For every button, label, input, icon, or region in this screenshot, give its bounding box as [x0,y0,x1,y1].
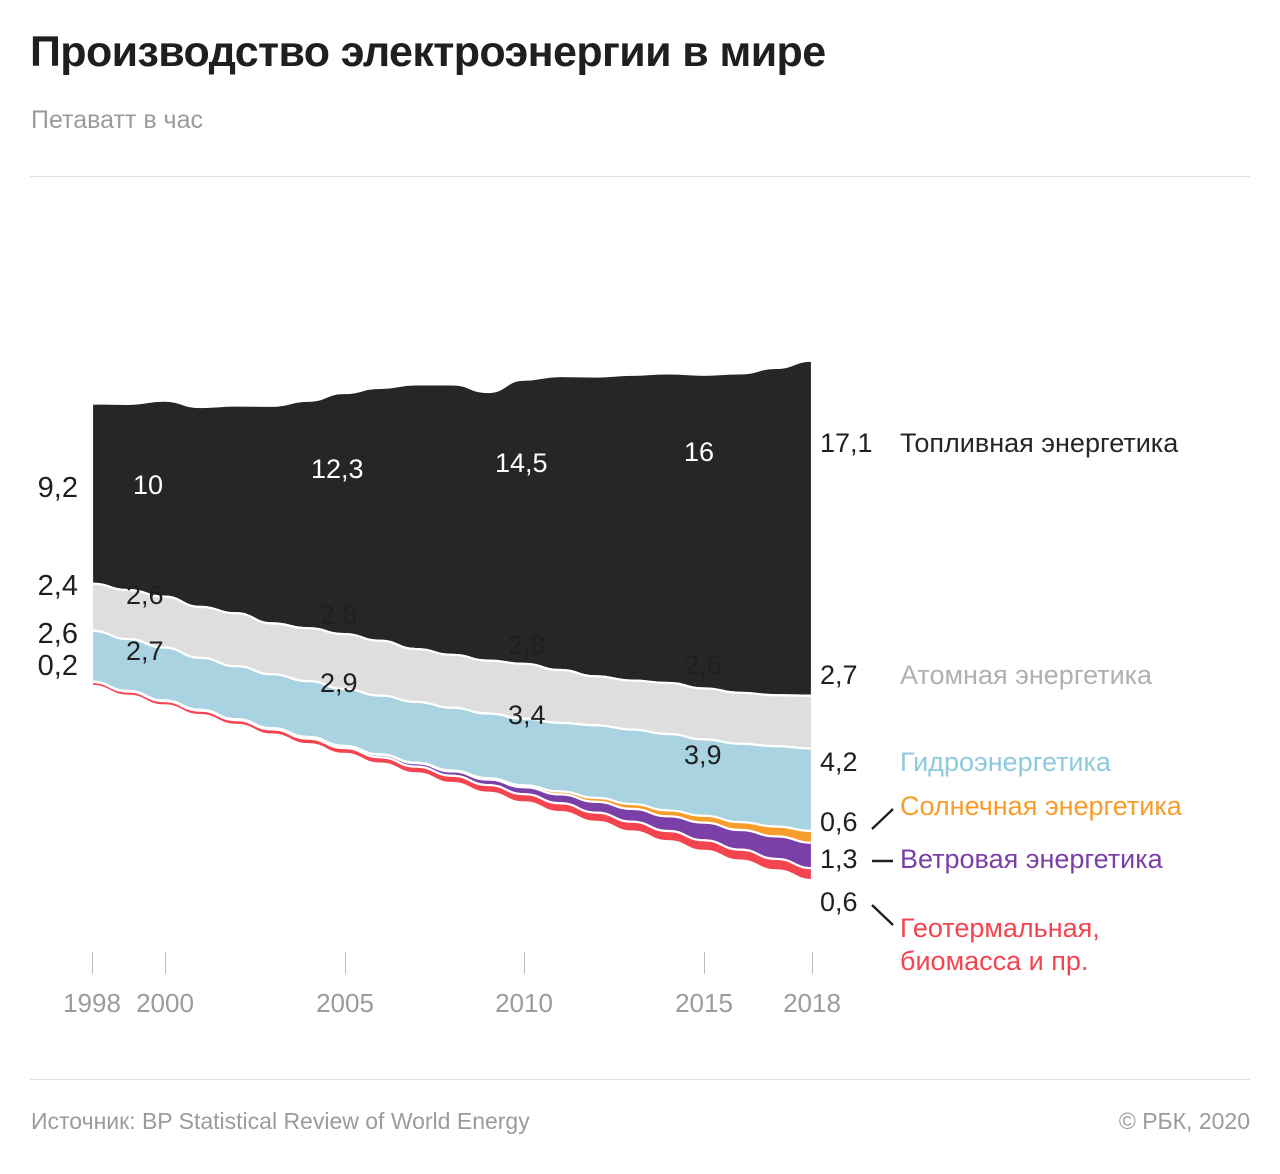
data-label-nuclear: 2,8 [508,630,546,661]
data-label-fuel: 12,3 [311,454,364,485]
x-tick-2018 [812,952,813,974]
x-tick-2005 [345,952,346,974]
legend-label-solar: Солнечная энергетика [900,791,1182,822]
left-value-fuel: 9,2 [0,472,78,505]
x-tick-2015 [704,952,705,974]
legend-label-hydro: Гидроэнергетика [900,747,1111,778]
legend-label-wind: Ветровая энергетика [900,844,1163,875]
x-label-2018: 2018 [760,988,864,1019]
data-label-fuel: 16 [684,437,714,468]
legend-leader-geothermal [872,905,893,925]
legend-value-nuclear: 2,7 [820,660,858,691]
infographic-page: Производство электроэнергии в мире Петав… [0,0,1280,1174]
legend-value-geothermal: 0,6 [820,887,858,918]
legend-label-geothermal: Геотермальная,биомасса и пр. [900,912,1100,978]
legend-label-line: биомасса и пр. [900,945,1100,978]
copyright-note: © РБК, 2020 [1119,1108,1250,1135]
data-label-nuclear: 2,6 [126,580,164,611]
data-label-hydro: 2,7 [126,636,164,667]
left-value-nuclear: 2,4 [0,570,78,603]
data-label-fuel: 10 [133,470,163,501]
data-label-nuclear: 2,8 [320,600,358,631]
footer-divider [30,1079,1250,1080]
left-value-hydro: 2,6 [0,618,78,651]
legend-label-fuel: Топливная энергетика [900,428,1178,459]
legend-value-solar: 0,6 [820,807,858,838]
data-label-hydro: 3,4 [508,700,546,731]
legend-label-nuclear: Атомная энергетика [900,660,1152,691]
left-value-geothermal: 0,2 [0,650,78,683]
legend-leader-solar [872,809,893,829]
data-label-hydro: 2,9 [320,668,358,699]
x-label-2005: 2005 [293,988,397,1019]
data-label-fuel: 14,5 [495,448,548,479]
x-tick-1998 [92,952,93,974]
x-label-2015: 2015 [652,988,756,1019]
data-label-hydro: 3,9 [684,740,722,771]
x-tick-2000 [165,952,166,974]
x-label-2010: 2010 [472,988,576,1019]
source-note: Источник: BP Statistical Review of World… [31,1108,530,1135]
legend-value-hydro: 4,2 [820,747,858,778]
legend-label-line: Геотермальная, [900,912,1100,945]
legend-value-wind: 1,3 [820,844,858,875]
x-label-2000: 2000 [113,988,217,1019]
x-tick-2010 [524,952,525,974]
legend-value-fuel: 17,1 [820,428,873,459]
data-label-nuclear: 2,6 [684,650,722,681]
